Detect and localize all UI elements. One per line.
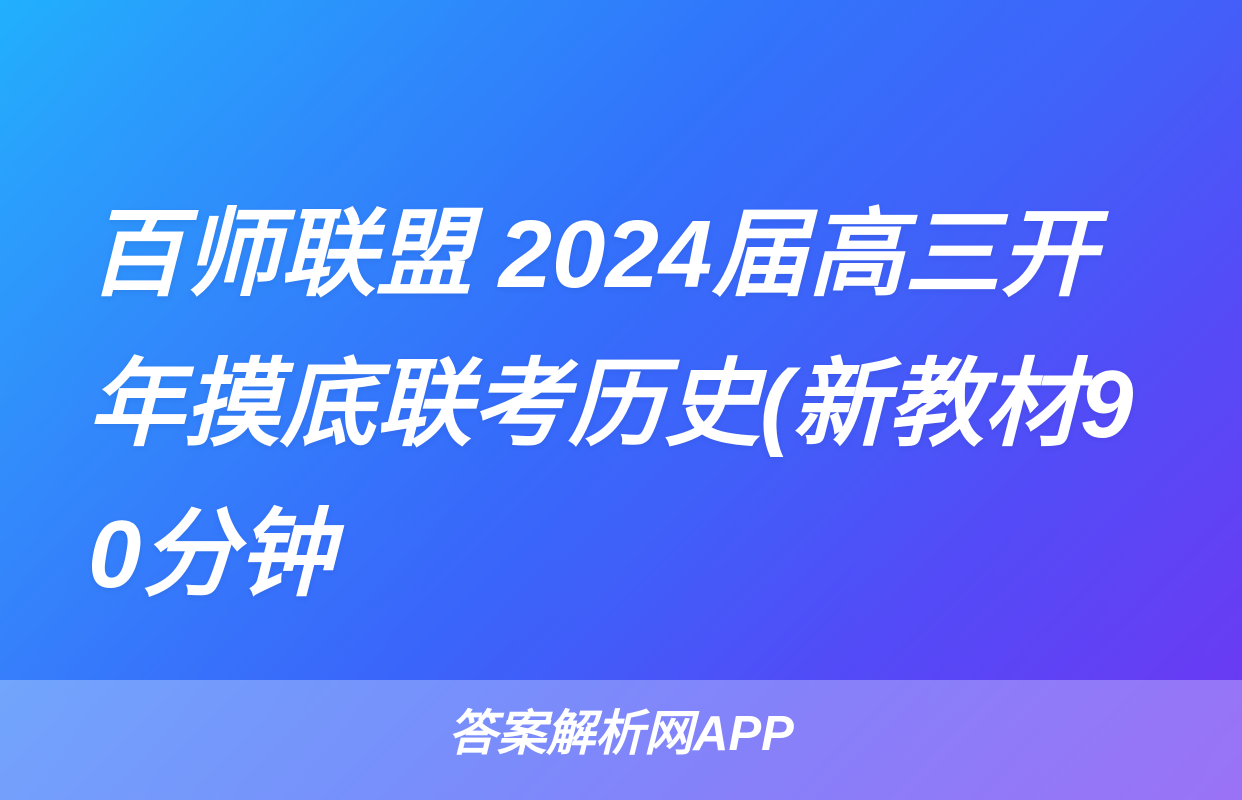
title-line-2: 年摸底联考历史(新教材9: [88, 330, 1168, 480]
watermark: 答案解析网APP: [0, 706, 1242, 762]
poster-card: 百师联盟 2024届高三开 年摸底联考历史(新教材9 0分钟 答案解析网APP: [0, 0, 1242, 800]
title-line-1: 百师联盟 2024届高三开: [88, 180, 1168, 330]
poster-title: 百师联盟 2024届高三开 年摸底联考历史(新教材9 0分钟: [88, 180, 1168, 630]
title-line-3: 0分钟: [88, 480, 1168, 630]
watermark-label: 答案解析网APP: [448, 706, 794, 762]
